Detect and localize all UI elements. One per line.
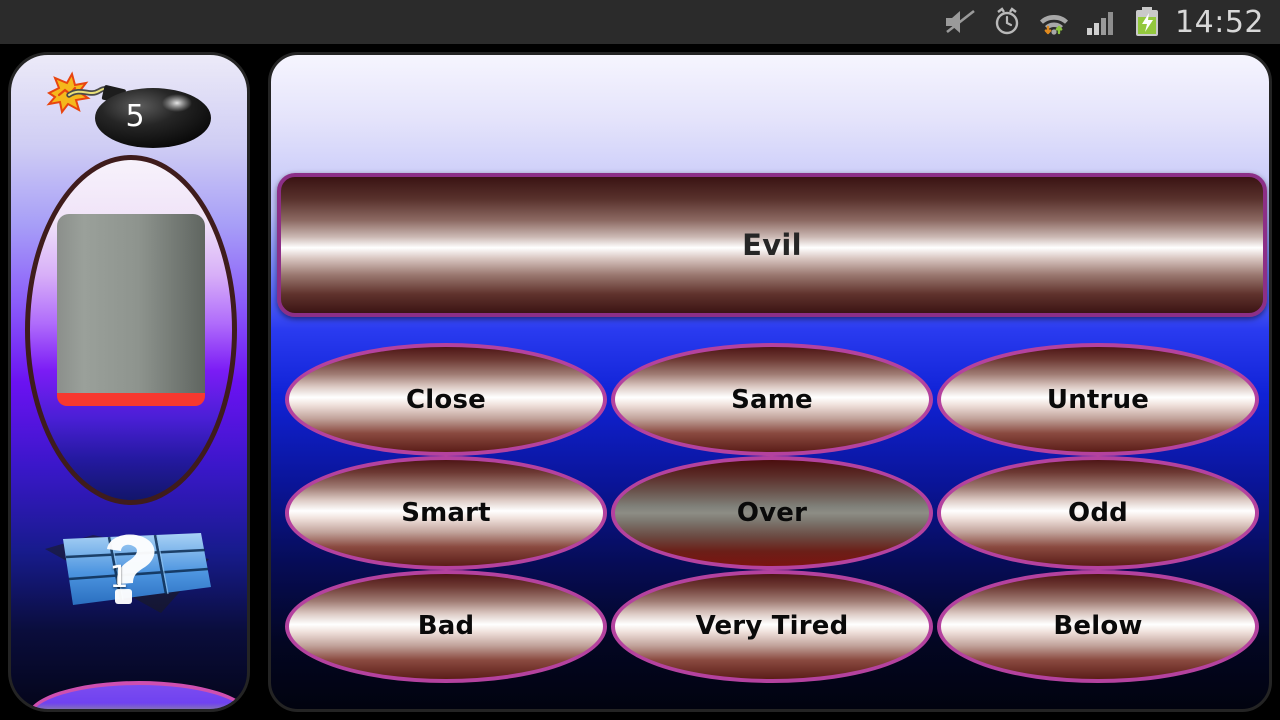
timer-bar-track	[57, 214, 205, 406]
hint-button[interactable]: 1	[33, 517, 233, 627]
answer-label: Same	[731, 385, 813, 415]
battery-charging-icon	[1133, 6, 1161, 38]
bomb-icon	[41, 71, 221, 151]
answer-label: Close	[406, 385, 486, 415]
answer-button[interactable]: Same	[611, 343, 933, 456]
answer-button[interactable]: Odd	[937, 456, 1259, 569]
question-tile-icon	[33, 517, 233, 627]
answer-label: Below	[1053, 611, 1142, 641]
answer-button[interactable]: Untrue	[937, 343, 1259, 456]
game-main-panel: Evil CloseSameUntrueSmartOverOddBadVery …	[268, 52, 1272, 712]
bomb-counter: 5	[41, 71, 221, 151]
signal-bars-icon	[1085, 8, 1119, 36]
answer-label: Untrue	[1047, 385, 1149, 415]
mute-icon	[943, 8, 977, 36]
answer-button[interactable]: Very Tired	[611, 570, 933, 683]
alarm-clock-icon	[991, 6, 1023, 38]
game-sidebar: 5	[8, 52, 250, 712]
prompt-word-bar: Evil	[277, 173, 1267, 317]
answer-button[interactable]: Below	[937, 570, 1259, 683]
wifi-icon	[1037, 7, 1071, 37]
answer-button[interactable]: Smart	[285, 456, 607, 569]
prompt-word: Evil	[742, 228, 802, 262]
answer-label: Very Tired	[696, 611, 849, 641]
answer-label: Bad	[418, 611, 475, 641]
answer-label: Odd	[1068, 498, 1128, 528]
timer-capsule	[25, 155, 237, 505]
answer-button[interactable]: Close	[285, 343, 607, 456]
timer-bar-fill	[57, 393, 205, 406]
score-display: 40	[27, 681, 250, 712]
answer-label: Over	[737, 498, 807, 528]
answer-button[interactable]: Over	[611, 456, 933, 569]
answer-button[interactable]: Bad	[285, 570, 607, 683]
status-bar-clock: 14:52	[1175, 5, 1264, 40]
game-screen: 14:52	[0, 0, 1280, 720]
android-status-bar: 14:52	[0, 0, 1280, 44]
answer-options-grid: CloseSameUntrueSmartOverOddBadVery Tired…	[285, 343, 1259, 683]
answer-label: Smart	[401, 498, 491, 528]
